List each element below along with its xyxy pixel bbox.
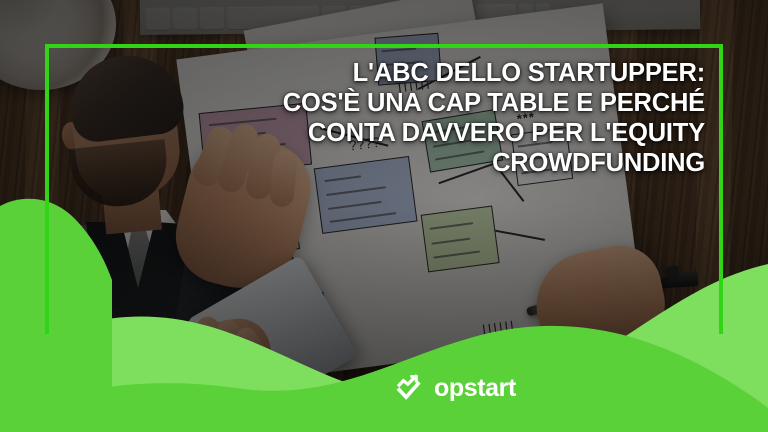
green-wave-left-peak bbox=[0, 180, 768, 432]
title-line-3: CONTA DAVVERO PER L'EQUITY bbox=[245, 118, 705, 148]
brand-logo[interactable]: opstart bbox=[396, 374, 516, 403]
brand-name: opstart bbox=[434, 376, 516, 401]
page-title: L'ABC DELLO STARTUPPER: COS'È UNA CAP TA… bbox=[245, 58, 705, 178]
title-line-4: CROWDFUNDING bbox=[245, 148, 705, 178]
chart-arrow-check-icon bbox=[396, 374, 425, 403]
banner-image: *** *** ???? |||||| |||||| ····· bbox=[0, 0, 768, 432]
title-line-1: L'ABC DELLO STARTUPPER: bbox=[245, 58, 705, 88]
title-line-2: COS'È UNA CAP TABLE E PERCHÉ bbox=[245, 88, 705, 118]
